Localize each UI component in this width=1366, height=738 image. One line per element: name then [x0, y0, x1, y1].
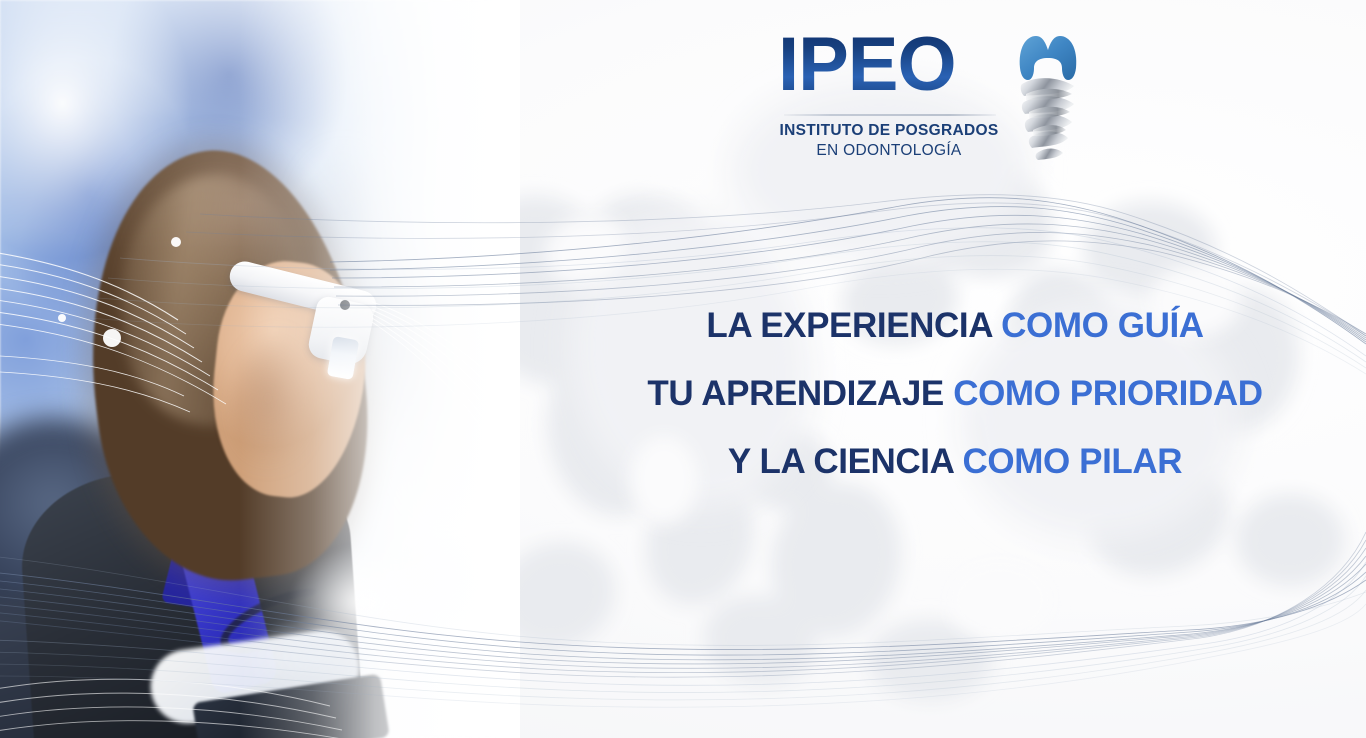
headline-line-3-dark: Y LA CIENCIA: [728, 442, 953, 481]
headline-line-1: LA EXPERIENCIA COMO GUÍA: [560, 292, 1350, 360]
logo-wordmark: IPEO: [778, 22, 1004, 108]
headline-block: LA EXPERIENCIA COMO GUÍA TU APRENDIZAJE …: [560, 292, 1350, 496]
dental-implant-icon: [1006, 24, 1090, 162]
banner-canvas: IPEO INSTITUTO DE POSGRADOS EN ODONTOLOG…: [0, 0, 1366, 738]
hero-photo: [0, 0, 520, 738]
headline-line-3-blue: COMO PILAR: [963, 442, 1183, 481]
headline-line-3: Y LA CIENCIA COMO PILAR: [560, 428, 1350, 496]
headline-line-2: TU APRENDIZAJE COMO PRIORIDAD: [560, 360, 1350, 428]
logo-wordmark-wrap: IPEO: [778, 22, 1004, 108]
logo-subtitle-line-2: EN ODONTOLOGÍA: [778, 142, 1000, 160]
headline-line-1-dark: LA EXPERIENCIA: [706, 306, 991, 345]
headline-line-2-dark: TU APRENDIZAJE: [647, 374, 943, 413]
logo-subtitle-line-1: INSTITUTO DE POSGRADOS: [778, 122, 1000, 140]
photo-right-fade: [0, 0, 520, 738]
headline-line-2-blue: COMO PRIORIDAD: [953, 374, 1262, 413]
ipeo-logo[interactable]: IPEO INSTITUTO DE POSGRADOS EN ODONTOLOG…: [778, 22, 1090, 164]
logo-divider-rule: [784, 114, 996, 116]
headline-line-1-blue: COMO GUÍA: [1001, 306, 1204, 345]
